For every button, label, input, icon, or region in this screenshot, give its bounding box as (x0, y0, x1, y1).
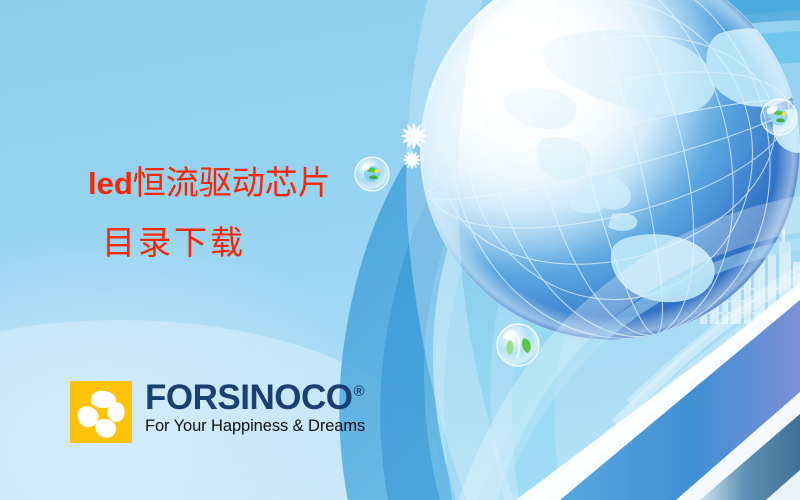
headline-cjk: 恒流驱动芯片 (133, 163, 331, 202)
company-logo[interactable]: FORSINOCO® For Your Happiness & Dreams (70, 381, 365, 443)
pinwheel-icon (70, 381, 132, 443)
logo-tagline: For Your Happiness & Dreams (145, 417, 365, 436)
headline-line-2: 目录下载 (102, 226, 331, 259)
headline-block: led恒流驱动芯片 目录下载 (88, 166, 331, 259)
logo-wordmark-group: FORSINOCO® For Your Happiness & Dreams (145, 381, 365, 436)
headline-line-1: led恒流驱动芯片 (88, 166, 331, 199)
four-petal-pinwheel-mark (70, 381, 132, 443)
logo-wordmark: FORSINOCO® (145, 382, 365, 415)
promo-banner: led恒流驱动芯片 目录下载 FORSINOCO® For Your Happi… (0, 0, 800, 500)
registered-trademark-symbol: ® (353, 384, 364, 399)
headline-latin: led (88, 166, 133, 201)
bubble-globe-icon (355, 157, 389, 191)
bubble-leaf-icon (497, 324, 539, 366)
bubble-globe-icon-right (761, 99, 797, 135)
logo-wordmark-text: FORSINOCO (145, 382, 352, 415)
